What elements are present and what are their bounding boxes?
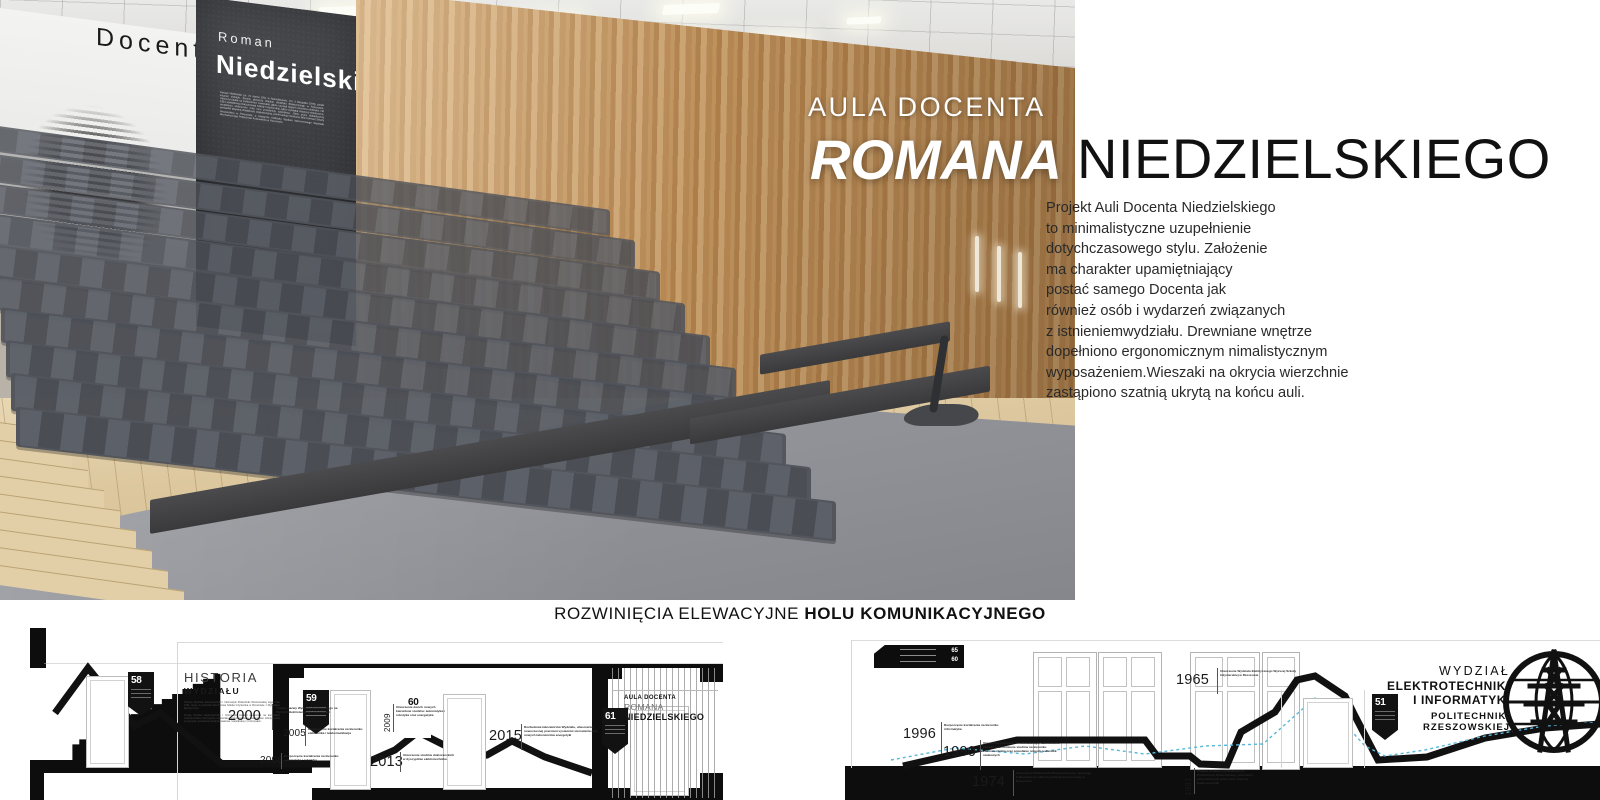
faculty-line3: I INFORMATYKI xyxy=(1310,693,1510,707)
faculty-line2: ELEKTROTECHNIKI xyxy=(1310,679,1510,693)
timeline-year: 2013 xyxy=(370,754,403,770)
timeline-year: 1990 xyxy=(943,744,976,760)
timeline-caption: Rozpoczęcie kształcenia na kierunku elek… xyxy=(308,728,364,736)
timeline-caption: Utworzenie Wydziału Elektrycznego Wyższe… xyxy=(1220,670,1298,678)
aula-sign-line2: ROMANA xyxy=(624,702,704,712)
timeline-caption: Rozbudowa laboratoriów Wydziału, utworze… xyxy=(524,726,602,738)
presentation-board: Docent Roman Niedzielski Roman Niedziels… xyxy=(0,0,1600,800)
timeline-caption: Utworzenie pracowni do mikrobiologii, wz… xyxy=(983,742,1061,758)
lecture-hall-photo: Docent Roman Niedzielski Roman Niedziels… xyxy=(0,0,1075,600)
timeline-year: 2009 xyxy=(383,706,392,732)
title-aula-docenta: AULA DOCENTA xyxy=(808,92,1046,123)
historia-subtitle: WYDZIAŁU xyxy=(184,686,280,696)
elevation-drawing-right: 65 60 xyxy=(845,628,1600,800)
auditorium-seating xyxy=(0,160,900,490)
ceiling-light xyxy=(846,16,881,24)
faculty-line4: POLITECHNIKI xyxy=(1310,711,1510,722)
aula-sign-line3: NIEDZIELSKIEGO xyxy=(624,712,704,722)
description-line: to minimalistyczne uzupełnienie xyxy=(1046,219,1396,240)
title-niedzielskiego: NIEDZIELSKIEGO xyxy=(1077,126,1551,191)
timeline-year: 2015 xyxy=(489,728,522,744)
room-number: 59 xyxy=(303,693,329,704)
description-line: również osób i wydarzeń związanych xyxy=(1046,301,1396,322)
historia-title: HISTORIA xyxy=(184,670,280,685)
description-line: Projekt Auli Docenta Niedzielskiego xyxy=(1046,198,1396,219)
description-line: zastąpiono szatnią ukrytą na końcu auli. xyxy=(1046,383,1396,404)
faculty-identity: WYDZIAŁ ELEKTROTECHNIKI I INFORMATYKI PO… xyxy=(1310,664,1510,733)
timeline-caption: Rozpoczęcie kształcenia na kierunku auto… xyxy=(284,755,340,763)
description-line: dopełniono ergonomicznym nimalistycznym xyxy=(1046,342,1396,363)
faculty-line1: WYDZIAŁ xyxy=(1310,664,1510,678)
wall-light xyxy=(975,236,979,292)
timeline-year: 1965 xyxy=(1176,672,1209,688)
power-pylon-globe-logo xyxy=(1500,646,1600,763)
elevation-drawing-left: AULA DOCENTA ROMANA NIEDZIELSKIEGO 58 59… xyxy=(0,628,723,800)
description-line: postać samego Docenta jak xyxy=(1046,280,1396,301)
aula-sign: AULA DOCENTA ROMANA NIEDZIELSKIEGO xyxy=(624,695,704,722)
faculty-line5: RZESZOWSKIEJ xyxy=(1310,722,1510,733)
description-line: wyposażeniem.Wieszaki na okrycia wierzch… xyxy=(1046,363,1396,384)
section-header-normal: ROZWINIĘCIA ELEWACYJNE xyxy=(554,604,804,623)
timeline-caption: Zmiana nazwy Wydziału Elektrycznego na W… xyxy=(276,707,340,715)
timeline-caption: Utworzenie dwóch nowych kierunków studió… xyxy=(396,706,448,718)
room-number: 58 xyxy=(128,675,154,686)
door xyxy=(86,676,129,768)
timeline-caption: Zmiana struktury wydziałowej w Politechn… xyxy=(1197,770,1261,786)
ceiling-light xyxy=(662,3,720,15)
timeline-caption: Utworzenie Politechniki Rzeszowskiej im.… xyxy=(1016,772,1094,784)
timeline-year: 1974 xyxy=(972,774,1005,790)
guide-line xyxy=(612,690,718,691)
timeline-year: 2000 xyxy=(228,708,261,724)
door xyxy=(443,694,486,790)
timeline-year: 2008 xyxy=(260,755,283,766)
timeline-year: 2005 xyxy=(283,728,306,739)
section-header: ROZWINIĘCIA ELEWACYJNE HOLU KOMUNIKACYJN… xyxy=(0,600,1600,628)
description-line: ma charakter upamiętniający xyxy=(1046,260,1396,281)
section-header-bold: HOLU KOMUNIKACYJNEGO xyxy=(804,604,1046,623)
timeline-year: 1981 xyxy=(1184,770,1193,796)
room-number: 61 xyxy=(602,711,628,722)
wall-light xyxy=(997,246,1001,302)
title-romana: ROMANA xyxy=(810,127,1062,192)
aula-sign-line1: AULA DOCENTA xyxy=(624,695,704,701)
wall-light xyxy=(1018,252,1022,308)
description-line: z istnieniemwydziału. Drewniane wnętrze xyxy=(1046,322,1396,343)
project-description: Projekt Auli Docenta Niedzielskiegoto mi… xyxy=(1046,198,1396,404)
timeline-caption: Rozpoczęcie kształcenia na kierunku info… xyxy=(944,724,1008,732)
description-line: dotychczasowego stylu. Założenie xyxy=(1046,239,1396,260)
door xyxy=(330,690,371,790)
timeline-caption: Utworzenie studiów doktoranckich w dyscy… xyxy=(403,754,455,762)
timeline-year: 1996 xyxy=(903,726,936,742)
